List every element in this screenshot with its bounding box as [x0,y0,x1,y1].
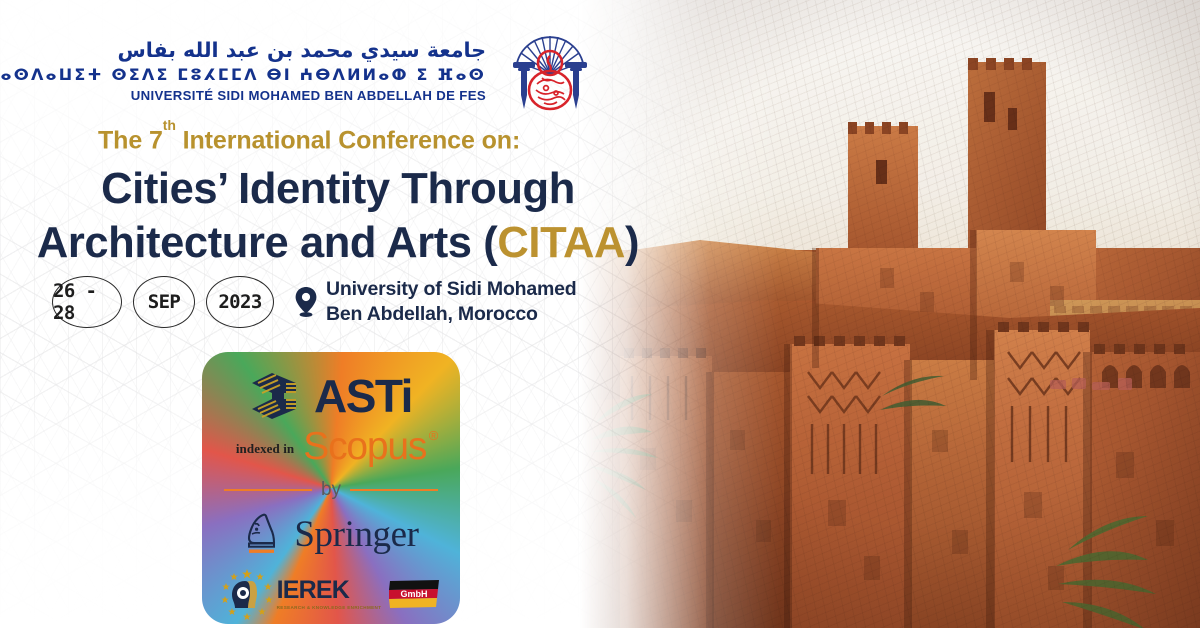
ierek-logo: IEREK RESEARCH & KNOWLEDGE ENRICHMENT Gm… [221,568,442,620]
title-line-2-prefix: Architecture and Arts ( [37,219,498,267]
ierek-wordmark: IEREK [277,578,349,603]
asti-wordmark: ASTi [314,373,412,419]
scopus-text: Scopus [303,425,426,468]
indexed-in-label: indexed in [236,441,294,457]
indexing-badge-card: ASTi indexed in Scopus® by [202,352,460,624]
conference-poster: جامعة سيدي محمد بن عبد الله بفاس ⵜⴰⵙⴷⴰⵡⵉ… [0,0,1200,628]
by-label: by [321,479,341,501]
divider-rule-left [224,489,312,491]
indexing-badge-inner: ASTi indexed in Scopus® by [205,355,457,621]
event-details-row: 26 - 28 SEP 2023 University of Sidi Moha… [52,276,577,328]
title-line-2-suffix: ) [625,219,639,267]
asti-chevron-icon [250,369,312,423]
usmba-emblem-icon [504,26,596,118]
location-line-2: Ben Abdellah, Morocco [326,302,577,327]
university-name-french: UNIVERSITÉ SIDI MOHAMED BEN ABDELLAH DE … [0,86,486,106]
conference-kicker: The 7th International Conference on: [98,126,520,155]
title-line-2: Architecture and Arts (CITAA) [28,217,648,271]
page-title: Cities’ Identity Through Architecture an… [28,163,648,270]
ierek-wordmark-block: IEREK RESEARCH & KNOWLEDGE ENRICHMENT [277,578,382,610]
divider-rule-right [350,489,438,491]
ierek-head-stars-icon [221,568,273,620]
title-acronym: CITAA [497,219,625,267]
scopus-wordmark: Scopus® [303,427,426,466]
gmbh-label: GmbH [401,589,428,599]
ierek-rest: EREK [283,576,349,604]
date-badge-days: 26 - 28 [52,276,122,328]
ierek-tagline: RESEARCH & KNOWLEDGE ENRICHMENT [277,605,382,610]
conference-kicker-ordinal: th [163,117,176,133]
ait-benhaddou-kasbah-photo [580,0,1200,628]
location-line-1: University of Sidi Mohamed [326,277,577,302]
university-name-arabic: جامعة سيدي محمد بن عبد الله بفاس [0,38,486,64]
location-block: University of Sidi Mohamed Ben Abdellah,… [295,277,577,327]
springer-knight-icon [243,512,285,556]
germany-flag-icon: GmbH [387,579,441,609]
location-pin-icon [295,287,317,317]
springer-wordmark: Springer [294,516,418,553]
springer-logo: Springer [243,512,418,556]
university-name-block: جامعة سيدي محمد بن عبد الله بفاس ⵜⴰⵙⴷⴰⵡⵉ… [0,38,486,106]
date-badge-year: 2023 [206,276,274,328]
location-text: University of Sidi Mohamed Ben Abdellah,… [326,277,577,327]
conference-kicker-suffix: International Conference on: [176,126,520,154]
poster-left-content: جامعة سيدي محمد بن عبد الله بفاس ⵜⴰⵙⴷⴰⵡⵉ… [0,0,660,628]
date-badge-month: SEP [133,276,195,328]
university-name-tifinagh: ⵜⴰⵙⴷⴰⵡⵉⵜ ⵙⵉⴷⵉ ⵎⵓⵃⵎⵎⴷ ⴱⵏ ⵄⴱⴷⵍⵍⴰⵀ ⵉ ⴼⴰⵙ [0,64,486,86]
published-by-row: by [224,479,438,501]
university-lockup: جامعة سيدي محمد بن عبد الله بفاس ⵜⴰⵙⴷⴰⵡⵉ… [86,26,596,118]
title-line-1: Cities’ Identity Through [28,163,648,217]
registered-trademark-icon: ® [429,429,437,442]
photo-vignette [580,0,1200,628]
scopus-logo-row: indexed in Scopus® [236,427,426,466]
conference-kicker-prefix: The 7 [98,126,163,154]
asti-logo: ASTi [250,367,412,425]
